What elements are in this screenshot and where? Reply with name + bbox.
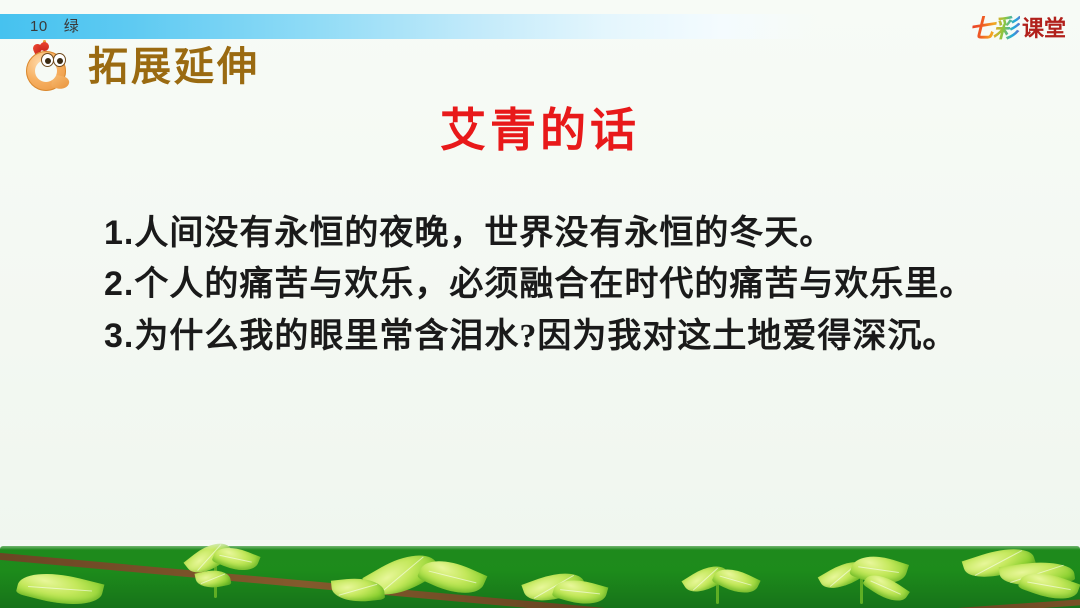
leaf-vein: [219, 555, 252, 563]
leaf-vein: [870, 581, 901, 596]
breadcrumb: 10 绿: [30, 14, 79, 39]
leaf-vein: [560, 589, 599, 595]
footer-decoration: [0, 540, 1080, 608]
leaf-vein: [859, 566, 900, 573]
quote-text: 个人的痛苦与欢乐，必须融合在时代的痛苦与欢乐里。: [134, 266, 974, 303]
leaf-vein: [720, 576, 753, 587]
brand-name-plain: 课堂: [1022, 11, 1066, 43]
q-mascot-icon: [22, 40, 74, 94]
mascot-eye-right: [53, 53, 66, 67]
quote-list: 1.人间没有永恒的夜晚，世界没有永恒的冬天。 2.个人的痛苦与欢乐，必须融合在时…: [36, 208, 1048, 362]
page-title: 艾青的话: [0, 106, 1080, 157]
leaf-vein: [339, 584, 377, 596]
leaf-vein: [1027, 581, 1071, 590]
quote-number: 1.: [104, 214, 134, 252]
section-title: 拓展延伸: [88, 47, 260, 87]
list-item: 3.为什么我的眼里常含泪水?因为我对这土地爱得深沉。: [36, 311, 1048, 362]
list-item: 1.人间没有永恒的夜晚，世界没有永恒的冬天。: [36, 208, 1048, 259]
band-top-fade: [0, 540, 1080, 550]
leaf-vein: [428, 570, 476, 583]
section-heading: 拓展延伸: [22, 40, 260, 94]
quote-number: 2.: [104, 265, 134, 303]
slide-canvas: 10 绿 七彩 课堂 拓展延伸 艾青的话 1.人间没有永恒的夜晚，世界没有永恒的…: [0, 0, 1080, 608]
list-item: 2.个人的痛苦与欢乐，必须融合在时代的痛苦与欢乐里。: [36, 259, 1048, 310]
quote-text: 人间没有永恒的夜晚，世界没有永恒的冬天。: [134, 215, 834, 252]
brand-name-colorful: 七彩: [969, 9, 1020, 45]
quote-number: 3.: [104, 317, 134, 355]
leaf-vein: [28, 586, 92, 592]
lesson-title: 绿: [64, 14, 80, 39]
header-bar: [0, 14, 820, 39]
leaf-vein: [201, 574, 225, 585]
quote-text: 为什么我的眼里常含泪水?因为我对这土地爱得深沉。: [134, 318, 957, 355]
lesson-number: 10: [30, 14, 48, 39]
brand-logo: 七彩 课堂: [969, 10, 1066, 44]
